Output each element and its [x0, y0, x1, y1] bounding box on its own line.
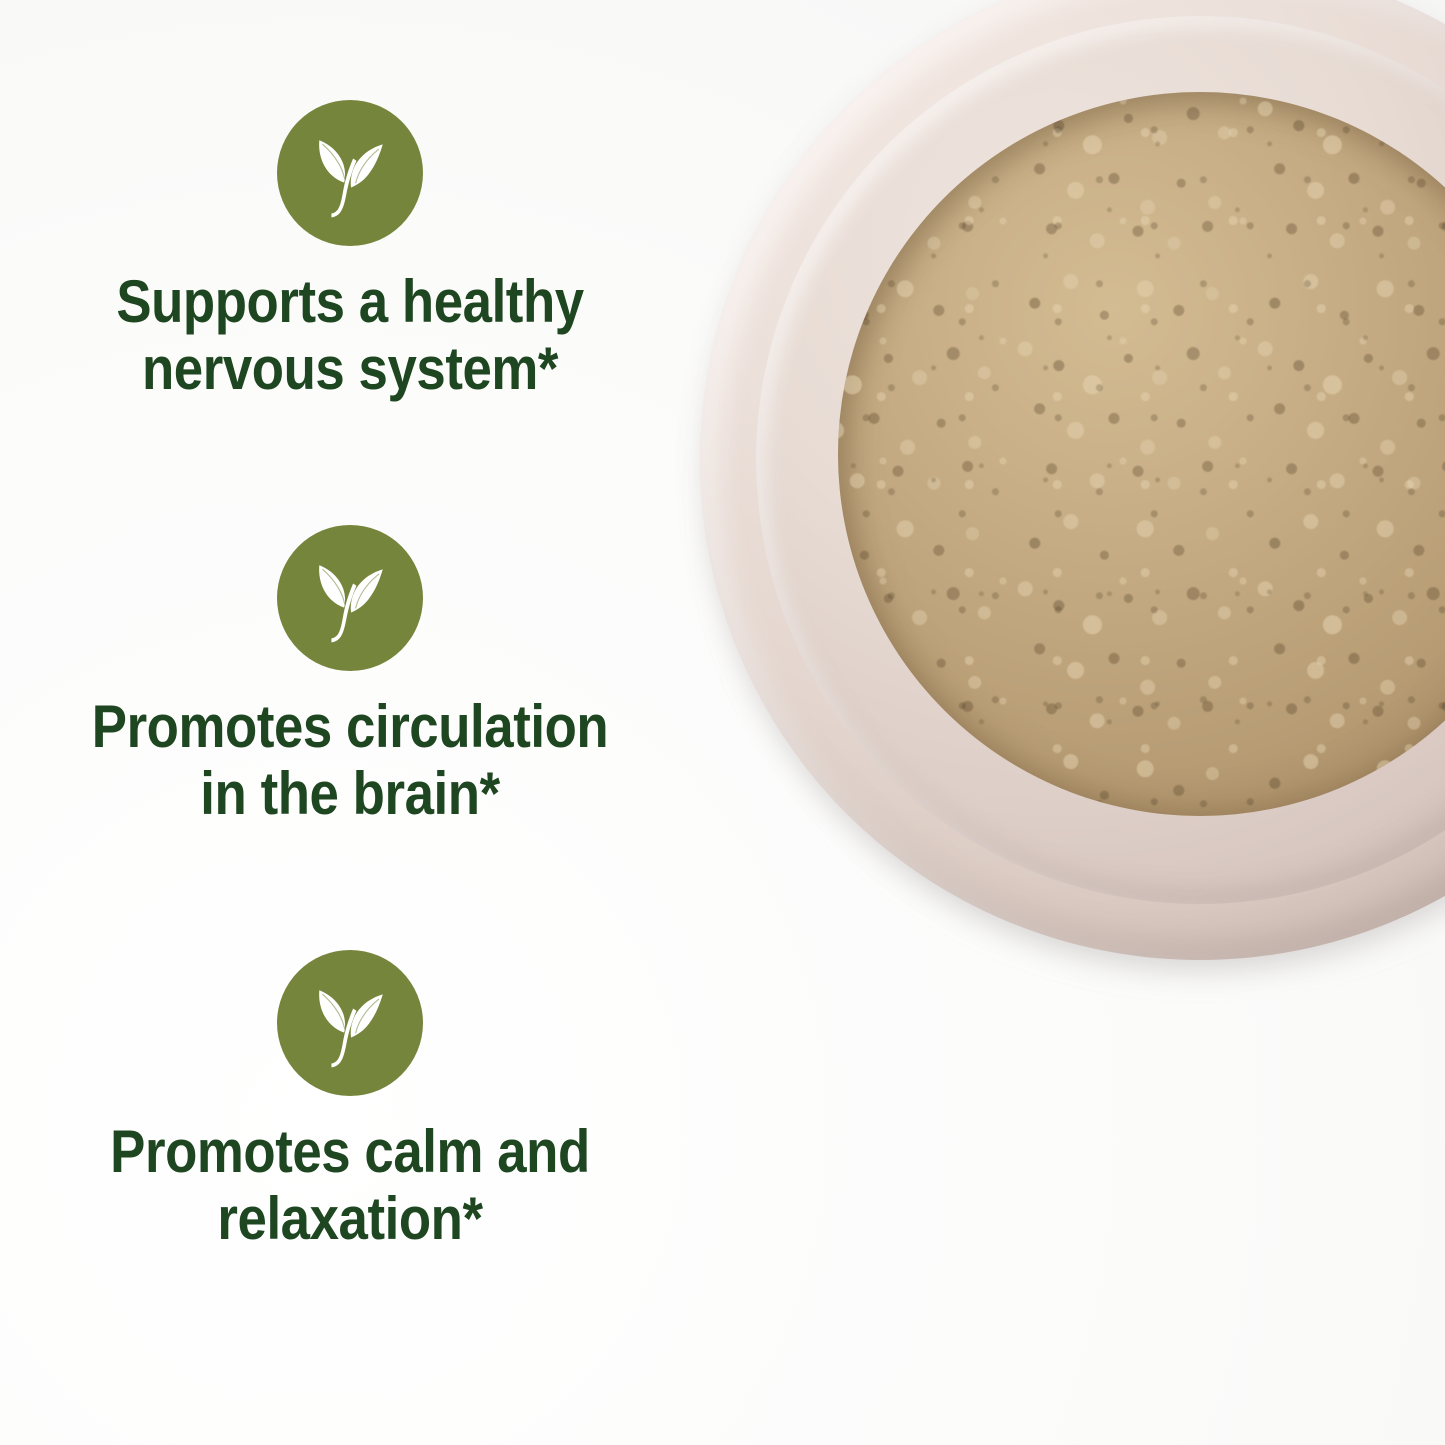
benefit-item-1: Supports a healthy nervous system*	[0, 100, 700, 402]
bowl-inner-wall	[756, 16, 1445, 904]
benefit-label: Promotes calm and relaxation*	[42, 1118, 658, 1252]
bowl-rim-powder-specks	[756, 16, 1445, 904]
sprout-leaf-icon	[277, 525, 423, 671]
product-benefits-panel: Supports a healthy nervous system* Promo…	[0, 0, 1445, 1445]
benefit-label: Promotes circulation in the brain*	[42, 693, 658, 827]
benefits-list: Supports a healthy nervous system* Promo…	[0, 0, 700, 1445]
benefit-label: Supports a healthy nervous system*	[42, 268, 658, 402]
sprout-leaf-icon	[277, 950, 423, 1096]
benefit-item-3: Promotes calm and relaxation*	[0, 950, 700, 1252]
bowl-ceramic-body	[700, 0, 1445, 960]
bowl-drop-shadow	[716, 10, 1445, 970]
benefit-item-2: Promotes circulation in the brain*	[0, 525, 700, 827]
sprout-leaf-icon	[277, 100, 423, 246]
herbal-powder-surface	[838, 92, 1445, 816]
product-photo	[690, 0, 1445, 970]
bowl-rim-highlight	[700, 0, 1445, 960]
